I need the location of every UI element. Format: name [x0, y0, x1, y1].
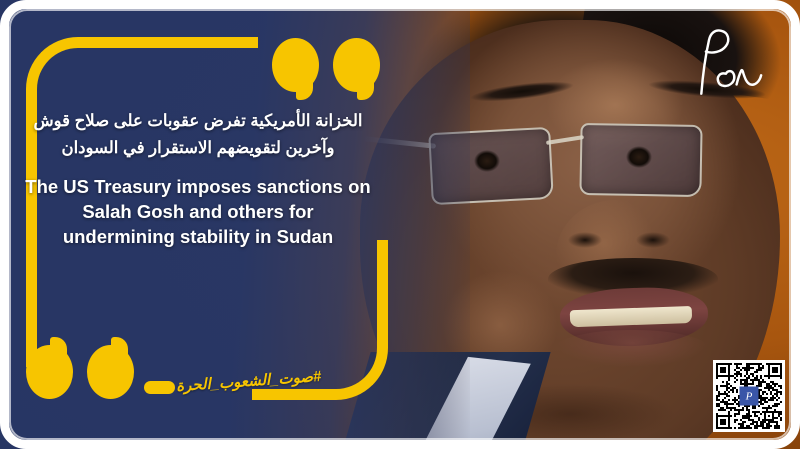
news-graphic-card: الخزانة الأمريكية تفرض عقوبات على صلاح ق… — [0, 0, 800, 449]
quote-open-icon — [272, 38, 380, 92]
photo-eye-left — [474, 150, 500, 172]
headline-block: الخزانة الأمريكية تفرض عقوبات على صلاح ق… — [24, 108, 372, 249]
quote-close-icon — [26, 345, 134, 399]
photo-eyeglasses — [430, 118, 790, 208]
headline-english: The US Treasury imposes sanctions on Sal… — [24, 175, 372, 249]
photo-lower-lip — [552, 330, 712, 374]
eyeglass-bridge — [546, 135, 584, 145]
quote-close-mark-1 — [26, 345, 73, 399]
decorative-dash — [144, 381, 175, 394]
quote-close-mark-2 — [87, 345, 134, 399]
photo-nostril-left — [568, 232, 602, 248]
photo-nostril-right — [636, 232, 670, 248]
qr-center-logo: P — [740, 387, 759, 406]
quote-open-mark-1 — [272, 38, 319, 92]
headline-arabic: الخزانة الأمريكية تفرض عقوبات على صلاح ق… — [24, 108, 372, 161]
photo-teeth — [570, 306, 693, 327]
photo-eye-right — [626, 146, 652, 168]
qr-code-icon[interactable]: P — [713, 360, 785, 432]
quote-open-mark-2 — [333, 38, 380, 92]
